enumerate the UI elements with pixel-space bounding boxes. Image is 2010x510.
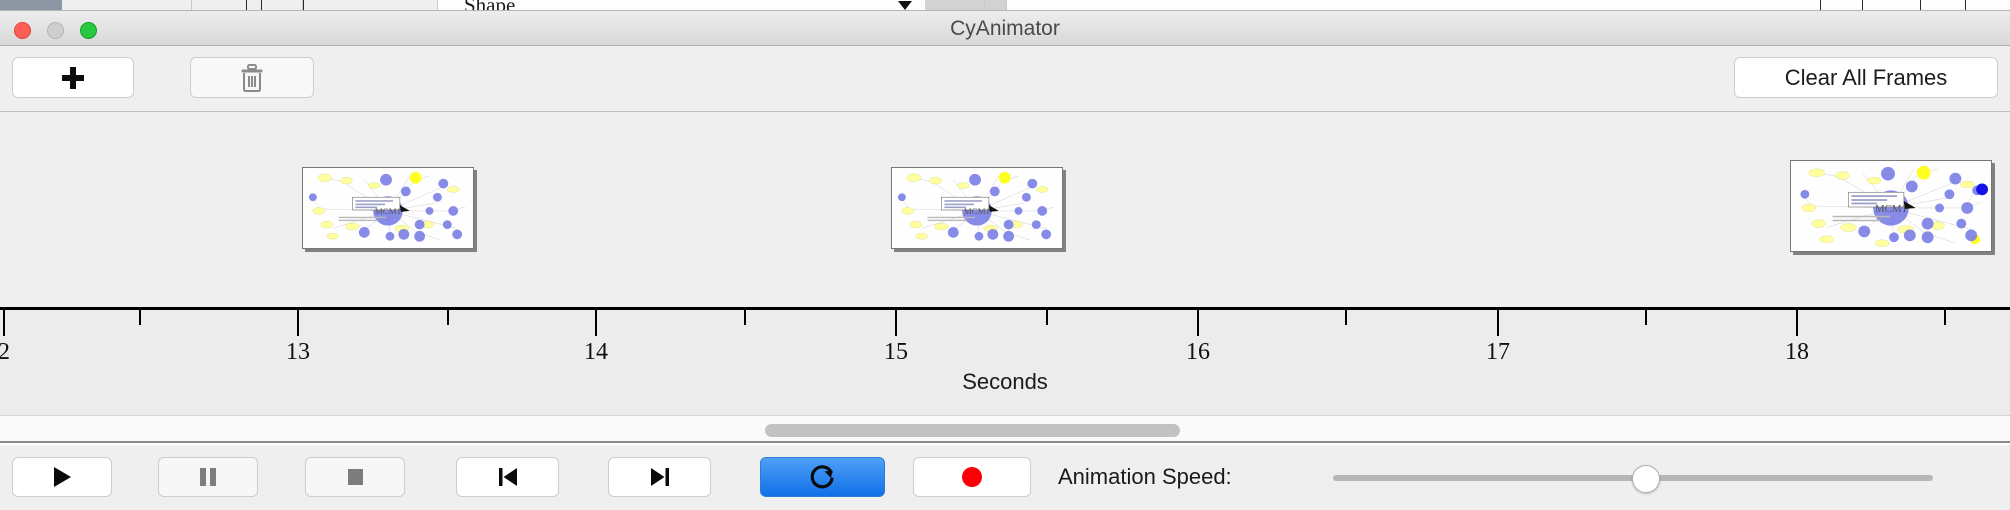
plus-icon [62, 67, 84, 89]
ruler-minor-tick [1345, 310, 1347, 325]
play-button[interactable] [12, 457, 112, 497]
ruler-major-tick [895, 310, 897, 336]
svg-text:MCM1: MCM1 [964, 206, 990, 216]
frame-thumbnail[interactable]: MCM1 [891, 167, 1063, 249]
playback-control-bar: Animation Speed: [0, 445, 2010, 510]
ruler-tick-label: 15 [884, 339, 908, 366]
ruler-minor-tick [447, 310, 449, 325]
ruler-tick-label: 17 [1486, 339, 1510, 366]
ruler-major-tick [1197, 310, 1199, 336]
ruler-tick-label: 14 [584, 339, 608, 366]
background-notch [898, 1, 912, 10]
ruler-major-tick [297, 310, 299, 336]
background-tick [303, 0, 304, 11]
horizontal-scrollbar[interactable] [765, 424, 1180, 437]
svg-text:MCM1: MCM1 [1875, 203, 1907, 215]
stop-button[interactable] [305, 457, 405, 497]
skip-to-start-button[interactable] [456, 457, 559, 497]
record-icon [960, 465, 984, 489]
background-segment [62, 0, 192, 11]
ruler-major-tick [595, 310, 597, 336]
title-bar: CyAnimator [0, 11, 2010, 46]
ruler-minor-tick [139, 310, 141, 325]
toolbar: Clear All Frames [0, 46, 2010, 112]
frame-thumbnail[interactable]: MCM1 [302, 167, 474, 249]
background-shape-label: Shape [464, 0, 515, 11]
timeline-ruler[interactable]: 2 13 14 15 16 17 18 Seconds [0, 307, 2010, 415]
ruler-minor-tick [1645, 310, 1647, 325]
ruler-tick-label: 16 [1186, 339, 1210, 366]
ruler-tick-label: 18 [1785, 339, 1809, 366]
background-tick [1820, 0, 1821, 11]
stop-icon [344, 465, 366, 489]
ruler-major-tick [3, 310, 5, 336]
clear-all-frames-button[interactable]: Clear All Frames [1734, 57, 1998, 98]
delete-frame-button[interactable] [190, 57, 314, 98]
background-segment [192, 0, 247, 11]
trash-icon [239, 64, 265, 92]
ruler-minor-tick [1944, 310, 1946, 325]
loop-icon [809, 463, 837, 491]
animation-speed-label: Animation Speed: [1058, 457, 1232, 497]
add-frame-button[interactable] [12, 57, 134, 98]
background-tick [1862, 0, 1863, 11]
cyanimator-window: Shape CyAnimator Clear All [0, 0, 2010, 510]
pause-icon [197, 465, 219, 489]
horizontal-scrollbar-track[interactable] [0, 415, 2010, 443]
pause-button[interactable] [158, 457, 258, 497]
background-tick [261, 0, 262, 11]
ruler-tick-label: 2 [0, 339, 10, 366]
ruler-major-tick [1796, 310, 1798, 336]
ruler-tick-label: 13 [286, 339, 310, 366]
background-segment [925, 0, 985, 11]
frame-thumbnail[interactable]: MCM1 [1790, 160, 1992, 252]
ruler-major-tick [1497, 310, 1499, 336]
skip-to-end-button[interactable] [608, 457, 711, 497]
play-icon [51, 465, 73, 489]
skip-back-icon [496, 465, 520, 489]
page-title: CyAnimator [0, 11, 2010, 46]
skip-forward-icon [648, 465, 672, 489]
timeline-frame-strip[interactable]: MCM1 [0, 112, 2010, 307]
ruler-baseline [0, 307, 2010, 310]
background-tick [1965, 0, 1966, 11]
background-window-strip: Shape [0, 0, 2010, 11]
background-active-tab [0, 0, 62, 11]
ruler-minor-tick [1046, 310, 1048, 325]
background-segment [985, 0, 1007, 11]
loop-button[interactable] [760, 457, 885, 497]
ruler-minor-tick [744, 310, 746, 325]
record-button[interactable] [913, 457, 1031, 497]
ruler-axis-title: Seconds [0, 369, 2010, 395]
background-tick [1920, 0, 1921, 11]
animation-speed-slider-handle[interactable] [1632, 465, 1660, 493]
svg-text:MCM1: MCM1 [375, 206, 401, 216]
background-segment [247, 0, 303, 11]
background-segment [303, 0, 438, 11]
background-tick [246, 0, 247, 11]
